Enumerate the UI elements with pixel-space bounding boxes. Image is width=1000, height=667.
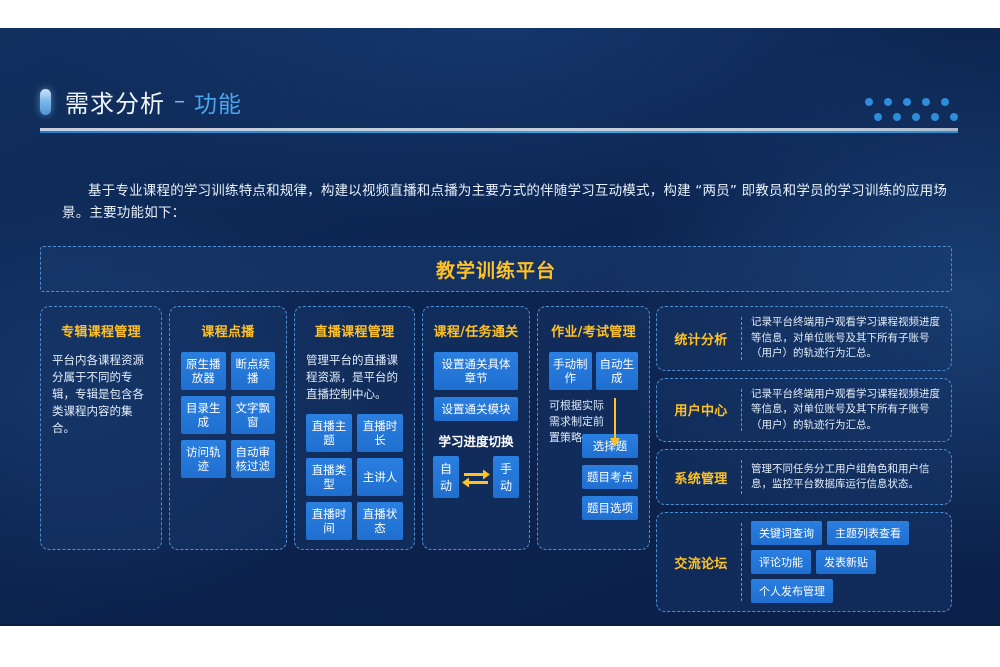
header-divider-accent [40, 131, 958, 133]
forum-tag-list: 关键词查询 主题列表查看 评论功能 发表新贴 个人发布管理 [751, 521, 941, 603]
row-divider [741, 389, 742, 432]
panel-row-user-center: 用户中心 记录平台终端用户观看学习课程视频进度等信息，对单位账号及其下所有子账号… [656, 378, 952, 443]
feature-button[interactable]: 原生播放器 [181, 352, 226, 390]
feature-button[interactable]: 访问轨迹 [181, 440, 226, 478]
toggle-option-manual[interactable]: 手动 [493, 456, 519, 498]
column-description: 管理平台的直播课程资源，是平台的直播控制中心。 [306, 352, 403, 403]
row-divider [741, 523, 742, 601]
forum-tag[interactable]: 发表新贴 [816, 550, 876, 574]
feature-button[interactable]: 目录生成 [181, 396, 226, 434]
feature-button[interactable]: 题目考点 [582, 465, 638, 489]
strategy-note: 可根据实际需求制定前置策略 [549, 398, 611, 446]
page-title-main: 需求分析 [65, 84, 165, 119]
page-title: 需求分析 – 功能 [40, 84, 242, 119]
feature-button[interactable]: 手动制作 [549, 352, 592, 390]
column-title: 课程点播 [201, 321, 254, 340]
decorative-dots-icon [865, 98, 958, 121]
question-type-stack: 选择题 题目考点 题目选项 [549, 434, 638, 520]
row-divider [741, 460, 742, 494]
panel-row-forum: 交流论坛 关键词查询 主题列表查看 评论功能 发表新贴 个人发布管理 [656, 512, 952, 612]
forum-tag[interactable]: 关键词查询 [751, 521, 822, 545]
panel-row-system-management: 系统管理 管理不同任务分工用户组角色和用户信息，监控平台数据库运行信息状态。 [656, 449, 952, 505]
platform-title: 教学训练平台 [436, 256, 556, 283]
swap-arrows-icon [461, 466, 491, 488]
progress-mode-toggle[interactable]: 自动 手动 [434, 456, 518, 498]
feature-columns: 专辑课程管理 平台内各课程资源分属于不同的专辑，专辑是包含各类课程内容的集合。 … [40, 306, 650, 550]
column-title: 作业/考试管理 [551, 321, 636, 340]
column-title: 直播课程管理 [315, 321, 395, 340]
intro-paragraph: 基于专业课程的学习训练特点和规律，构建以视频直播和点播为主要方式的伴随学习互动模… [62, 180, 952, 224]
column-title: 课程/任务通关 [434, 321, 519, 340]
feature-button[interactable]: 自动审核过滤 [231, 440, 276, 478]
forum-tag[interactable]: 个人发布管理 [751, 579, 833, 603]
feature-button[interactable]: 直播主题 [306, 414, 352, 452]
forum-tag[interactable]: 主题列表查看 [827, 521, 909, 545]
toggle-option-auto[interactable]: 自动 [433, 456, 459, 498]
feature-button[interactable]: 设置通关具体章节 [434, 352, 518, 390]
panel-row-title: 交流论坛 [663, 553, 739, 572]
title-dash: – [174, 89, 185, 114]
panel-row-title: 统计分析 [663, 329, 739, 348]
forum-tag[interactable]: 评论功能 [751, 550, 811, 574]
platform-banner: 教学训练平台 [40, 246, 952, 292]
panel-row-title: 用户中心 [663, 400, 739, 419]
feature-button[interactable]: 直播状态 [357, 502, 403, 540]
feature-button-grid: 原生播放器 断点续播 目录生成 文字飘窗 访问轨迹 自动审核过滤 [181, 352, 275, 478]
column-album-course-management: 专辑课程管理 平台内各课程资源分属于不同的专辑，专辑是包含各类课程内容的集合。 [40, 306, 162, 550]
panel-row-description: 管理不同任务分工用户组角色和用户信息，监控平台数据库运行信息状态。 [751, 462, 941, 493]
panel-row-title: 系统管理 [663, 468, 739, 487]
column-description: 平台内各课程资源分属于不同的专辑，专辑是包含各类课程内容的集合。 [52, 352, 150, 437]
generation-mode-buttons: 手动制作 自动生成 [549, 352, 638, 390]
feature-button[interactable]: 自动生成 [596, 352, 639, 390]
feature-button[interactable]: 断点续播 [231, 352, 276, 390]
arrow-down-icon [607, 398, 623, 452]
column-homework-exam-management: 作业/考试管理 手动制作 自动生成 可根据实际需求制定前置策略 选择题 题目考点… [537, 306, 650, 550]
panel-row-statistics: 统计分析 记录平台终端用户观看学习课程视频进度等信息，对单位账号及其下所有子账号… [656, 306, 952, 371]
panel-row-description: 记录平台终端用户观看学习课程视频进度等信息，对单位账号及其下所有子账号（用户）的… [751, 387, 941, 434]
toggle-label: 学习进度切换 [438, 431, 513, 450]
column-course-on-demand: 课程点播 原生播放器 断点续播 目录生成 文字飘窗 访问轨迹 自动审核过滤 [169, 306, 287, 550]
column-title: 专辑课程管理 [61, 321, 141, 340]
panel-row-description: 记录平台终端用户观看学习课程视频进度等信息，对单位账号及其下所有子账号（用户）的… [751, 315, 941, 362]
pill-marker-icon [40, 89, 51, 115]
slide-canvas: 需求分析 – 功能 基于专业课程的学习训练特点和规律，构建以视频直播和点播为主要… [0, 28, 1000, 626]
row-divider [741, 317, 742, 360]
feature-button[interactable]: 直播类型 [306, 458, 352, 496]
strategy-note-row: 可根据实际需求制定前置策略 [549, 398, 638, 446]
right-panel: 统计分析 记录平台终端用户观看学习课程视频进度等信息，对单位账号及其下所有子账号… [656, 306, 952, 612]
feature-button[interactable]: 文字飘窗 [231, 396, 276, 434]
feature-button[interactable]: 设置通关模块 [434, 397, 518, 421]
feature-button[interactable]: 主讲人 [357, 458, 403, 496]
column-live-course-management: 直播课程管理 管理平台的直播课程资源，是平台的直播控制中心。 直播主题 直播时长… [294, 306, 415, 550]
page-title-sub: 功能 [194, 85, 242, 119]
feature-button[interactable]: 直播时间 [306, 502, 352, 540]
feature-button-grid: 直播主题 直播时长 直播类型 主讲人 直播时间 直播状态 [306, 414, 403, 540]
column-course-task-pass: 课程/任务通关 设置通关具体章节 设置通关模块 学习进度切换 自动 手动 [422, 306, 530, 550]
feature-button-stack: 设置通关具体章节 设置通关模块 [434, 352, 518, 421]
feature-button[interactable]: 题目选项 [582, 496, 638, 520]
feature-button[interactable]: 直播时长 [357, 414, 403, 452]
